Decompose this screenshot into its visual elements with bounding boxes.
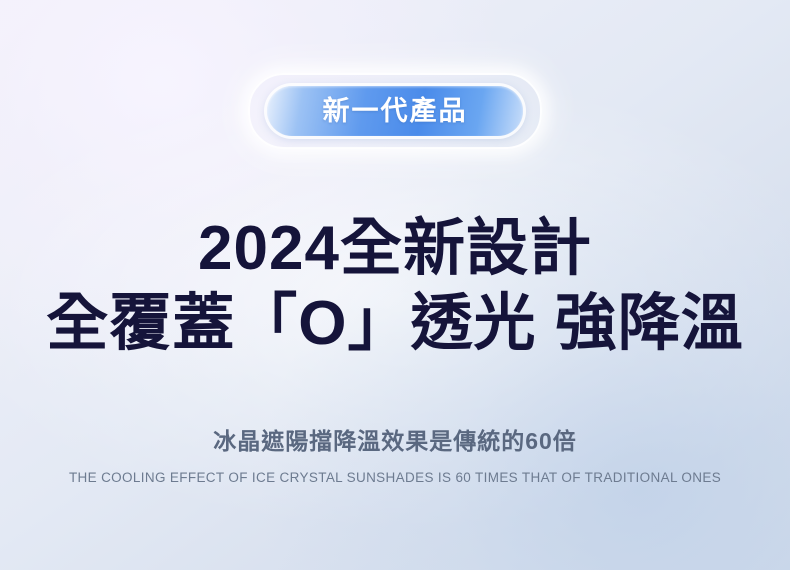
headline-block: 2024全新設計 全覆蓋「O」透光 強降溫 [46,216,743,358]
subtitle-english: THE COOLING EFFECT OF ICE CRYSTAL SUNSHA… [69,470,721,485]
headline-line-2: 全覆蓋「O」透光 強降溫 [46,291,743,358]
new-generation-badge: 新一代產品 [267,86,523,136]
badge-label: 新一代產品 [323,98,468,125]
headline-line-1: 2024全新設計 [46,216,743,283]
hero-content: 新一代產品 2024全新設計 全覆蓋「O」透光 強降溫 冰晶遮陽擋降溫效果是傳統… [0,0,790,570]
hero-banner: 新一代產品 2024全新設計 全覆蓋「O」透光 強降溫 冰晶遮陽擋降溫效果是傳統… [0,0,790,570]
badge-pill: 新一代產品 [267,86,523,136]
subtitle-chinese: 冰晶遮陽擋降溫效果是傳統的60倍 [213,422,577,456]
